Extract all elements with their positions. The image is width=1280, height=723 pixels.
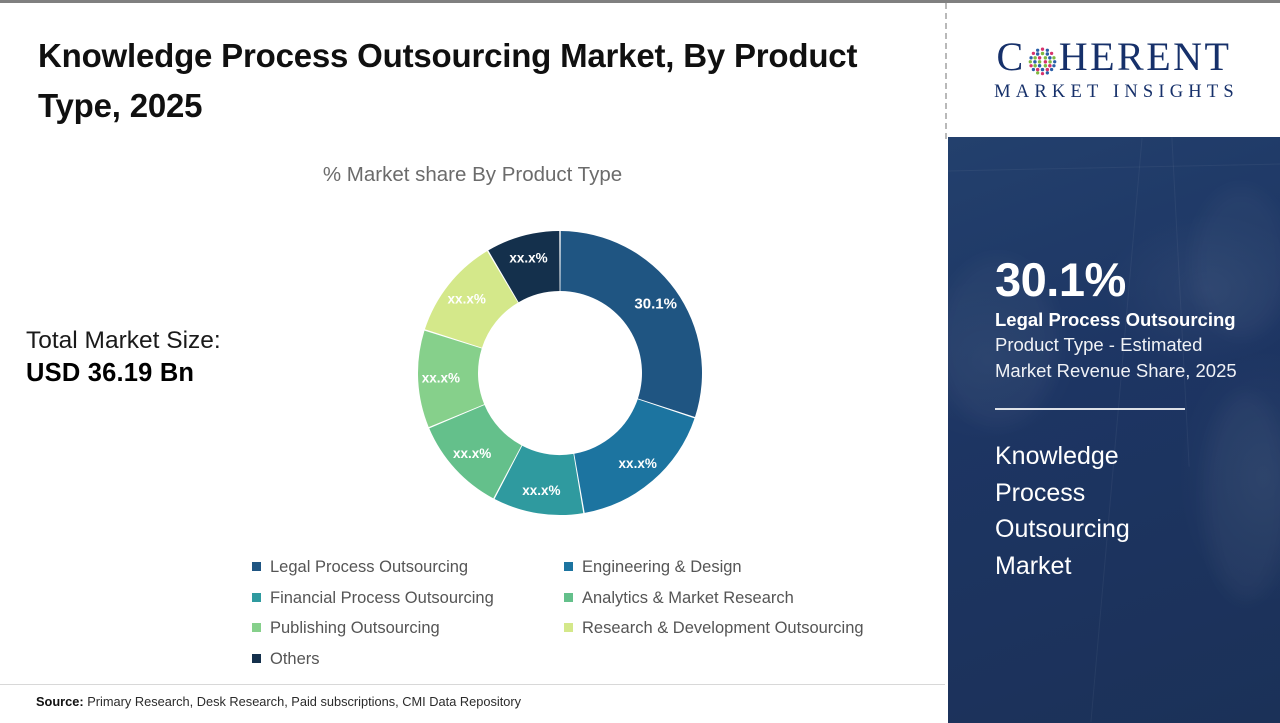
legend-swatch-icon xyxy=(252,623,261,632)
right-panel: C xyxy=(948,3,1280,723)
legend-item-analytics-market-research[interactable]: Analytics & Market Research xyxy=(564,590,876,607)
total-market-size-label: Total Market Size: xyxy=(26,325,326,357)
chart-legend: Legal Process Outsourcing Engineering & … xyxy=(252,559,922,681)
donut-chart: 30.1%xx.x%xx.x%xx.x%xx.x%xx.x%xx.x% xyxy=(410,223,710,523)
legend-label: Others xyxy=(270,651,320,668)
donut-slice[interactable] xyxy=(560,231,702,417)
legend-label: Financial Process Outsourcing xyxy=(270,590,494,607)
donut-chart-svg: 30.1%xx.x%xx.x%xx.x%xx.x%xx.x%xx.x% xyxy=(410,223,710,523)
left-panel: Knowledge Process Outsourcing Market, By… xyxy=(0,3,945,723)
legend-row: Publishing Outsourcing Research & Develo… xyxy=(252,620,922,651)
legend-item-publishing-outsourcing[interactable]: Publishing Outsourcing xyxy=(252,620,564,637)
chart-subtitle: % Market share By Product Type xyxy=(0,163,945,187)
brand-logo-inner: C xyxy=(964,37,1264,103)
legend-item-financial-process-outsourcing[interactable]: Financial Process Outsourcing xyxy=(252,590,564,607)
legend-swatch-icon xyxy=(252,562,261,571)
globe-dots-icon-svg xyxy=(1027,46,1058,77)
highlight-stat-rule xyxy=(995,408,1185,410)
highlight-stat-description: Product Type - Estimated Market Revenue … xyxy=(995,332,1245,385)
legend-label: Publishing Outsourcing xyxy=(270,620,440,637)
source-prefix: Source: xyxy=(36,694,84,709)
legend-row: Others xyxy=(252,651,922,682)
page-title: Knowledge Process Outsourcing Market, By… xyxy=(38,31,868,131)
highlight-stat-panel: 30.1% Legal Process Outsourcing Product … xyxy=(948,137,1280,723)
source-note: Source: Primary Research, Desk Research,… xyxy=(36,694,521,709)
legend-item-others[interactable]: Others xyxy=(252,651,564,668)
brand-logo[interactable]: C xyxy=(948,3,1280,137)
brand-logo-word: HERENT xyxy=(1059,37,1232,77)
legend-item-engineering-design[interactable]: Engineering & Design xyxy=(564,559,876,576)
legend-item-legal-process-outsourcing[interactable]: Legal Process Outsourcing xyxy=(252,559,564,576)
legend-label: Engineering & Design xyxy=(582,559,742,576)
highlight-stat-content: 30.1% Legal Process Outsourcing Product … xyxy=(995,137,1270,585)
legend-row: Legal Process Outsourcing Engineering & … xyxy=(252,559,922,590)
total-market-size-value: USD 36.19 Bn xyxy=(26,357,326,391)
total-market-size: Total Market Size: USD 36.19 Bn xyxy=(26,325,326,391)
donut-slice-label: 30.1% xyxy=(634,295,677,312)
highlight-stat-market-name: Knowledge Process Outsourcing Market xyxy=(995,438,1210,585)
globe-dots-icon xyxy=(1027,44,1058,75)
source-divider xyxy=(0,684,945,685)
legend-swatch-icon xyxy=(564,562,573,571)
legend-label: Analytics & Market Research xyxy=(582,590,794,607)
donut-slice-label: xx.x% xyxy=(448,291,486,306)
donut-slice-group xyxy=(418,231,702,515)
donut-slice-label: xx.x% xyxy=(422,371,460,386)
source-text: Primary Research, Desk Research, Paid su… xyxy=(84,694,521,709)
panel-dashed-divider xyxy=(945,3,947,139)
legend-item-research-development-outsourcing[interactable]: Research & Development Outsourcing xyxy=(564,620,876,637)
brand-logo-tagline: MARKET INSIGHTS xyxy=(964,82,1264,103)
legend-swatch-icon xyxy=(252,654,261,663)
donut-slice-label: xx.x% xyxy=(453,446,491,461)
infographic-root: Knowledge Process Outsourcing Market, By… xyxy=(0,0,1280,723)
highlight-stat-percent: 30.1% xyxy=(995,256,1270,304)
brand-logo-letter-c: C xyxy=(997,37,1026,77)
highlight-stat-segment: Legal Process Outsourcing xyxy=(995,309,1270,331)
legend-label: Research & Development Outsourcing xyxy=(582,620,864,637)
donut-slice-label: xx.x% xyxy=(522,483,560,498)
donut-slice-label: xx.x% xyxy=(509,251,547,266)
legend-swatch-icon xyxy=(252,593,261,602)
legend-row: Financial Process Outsourcing Analytics … xyxy=(252,590,922,621)
legend-swatch-icon xyxy=(564,623,573,632)
legend-swatch-icon xyxy=(564,593,573,602)
donut-slice-label: xx.x% xyxy=(619,456,657,471)
legend-label: Legal Process Outsourcing xyxy=(270,559,468,576)
brand-logo-wordmark: C xyxy=(964,37,1264,77)
